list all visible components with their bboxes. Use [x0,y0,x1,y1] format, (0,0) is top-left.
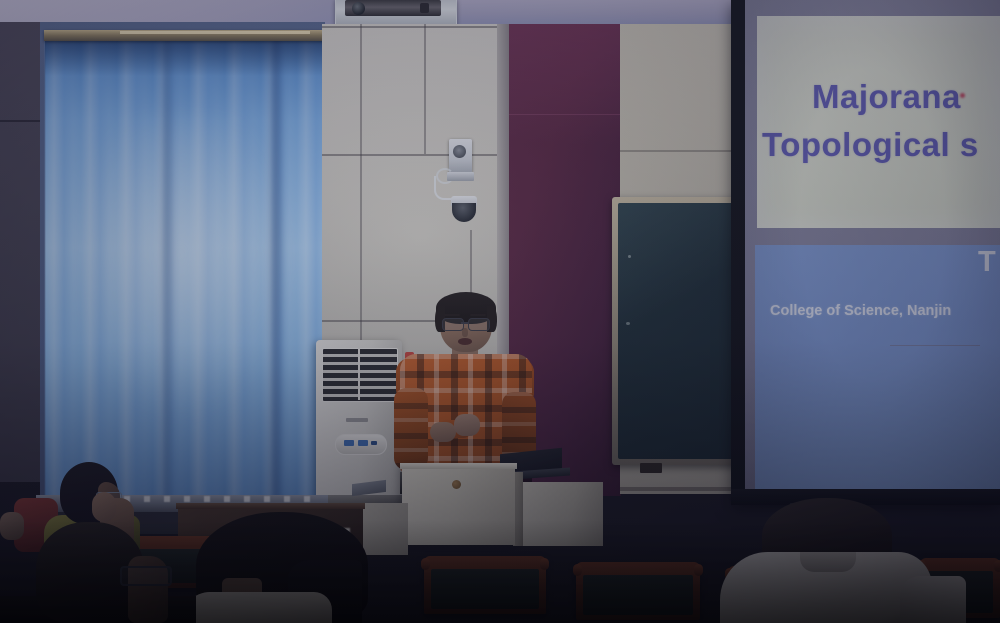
photo-bottom-shadow [0,520,1000,623]
lecture-hall-photo: Majorana Topological s T College of Scie… [0,0,1000,623]
